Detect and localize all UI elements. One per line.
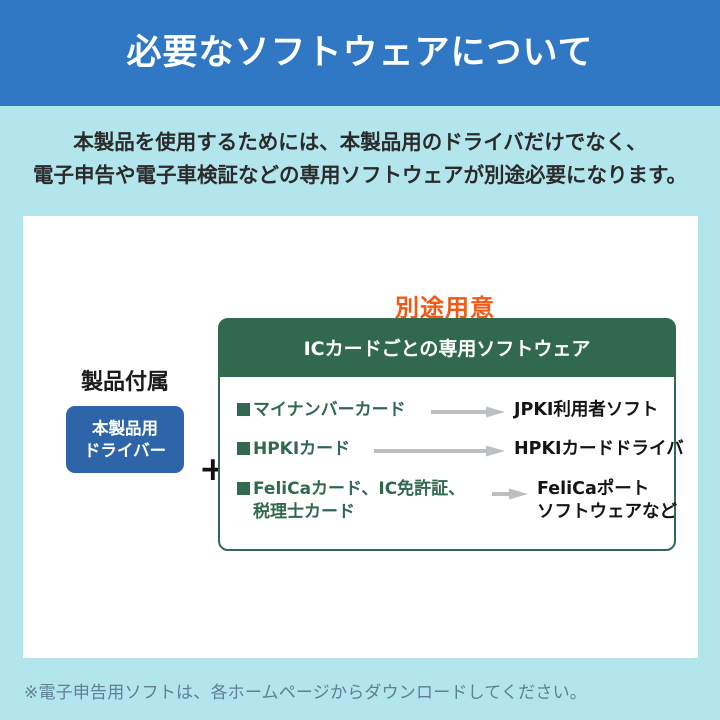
square-bullet-icon bbox=[237, 403, 250, 416]
square-bullet-icon bbox=[237, 482, 250, 495]
arrow-right-icon bbox=[431, 406, 505, 418]
software-name-label: HPKIカードドライバ bbox=[514, 438, 684, 461]
driver-box: 本製品用 ドライバー bbox=[66, 406, 184, 473]
table-row: HPKIカード HPKIカードドライバ bbox=[237, 438, 657, 461]
arrow-right-icon bbox=[374, 445, 505, 457]
software-name-line-2: ソフトウェアなど bbox=[537, 501, 677, 524]
software-name-line-1: JPKI利用者ソフト bbox=[514, 399, 658, 422]
card-type-line-1: FeliCaカード、IC免許証、 bbox=[237, 478, 483, 501]
card-type-line-2: 税理士カード bbox=[237, 501, 483, 524]
software-name-line-1: FeliCaポート bbox=[537, 478, 677, 501]
card-type-text-1: マイナンバーカード bbox=[253, 400, 406, 420]
driver-box-line-1: 本製品用 bbox=[92, 418, 158, 440]
software-panel: ICカードごとの専用ソフトウェア マイナンバーカード JPKI利用者ソフト bbox=[218, 318, 676, 551]
card-type-label: HPKIカード bbox=[237, 438, 365, 461]
intro-text: 本製品を使用するためには、本製品用のドライバだけでなく、 電子申告や電子車検証な… bbox=[0, 126, 720, 192]
bundled-label: 製品付属 bbox=[50, 371, 200, 395]
software-name-line-1: HPKIカードドライバ bbox=[514, 438, 684, 461]
footnote-text: ※電子申告用ソフトは、各ホームページからダウンロードしてください。 bbox=[24, 678, 587, 703]
driver-box-line-2: ドライバー bbox=[84, 440, 166, 462]
card-type-label: マイナンバーカード bbox=[237, 399, 422, 422]
software-name-label: FeliCaポート ソフトウェアなど bbox=[537, 478, 677, 525]
software-panel-header: ICカードごとの専用ソフトウェア bbox=[219, 319, 675, 377]
square-bullet-icon bbox=[237, 442, 250, 455]
arrow-right-icon bbox=[492, 488, 528, 500]
diagram-card: 製品付属 本製品用 ドライバー + 別途用意 ICカードごとの専用ソフトウェア … bbox=[23, 216, 698, 658]
card-type-line-1: HPKIカード bbox=[237, 438, 365, 461]
intro-line-2: 電子申告や電子車検証などの専用ソフトウェアが別途必要になります。 bbox=[0, 159, 720, 192]
bundled-driver-group: 製品付属 本製品用 ドライバー bbox=[50, 371, 200, 473]
card-type-text-1: FeliCaカード、IC免許証、 bbox=[253, 479, 465, 499]
table-row: FeliCaカード、IC免許証、 税理士カード FeliCaポート ソフトウェア… bbox=[237, 478, 657, 525]
page-header-banner: 必要なソフトウェアについて bbox=[0, 0, 720, 106]
table-row: マイナンバーカード JPKI利用者ソフト bbox=[237, 399, 657, 422]
software-name-label: JPKI利用者ソフト bbox=[514, 399, 658, 422]
intro-line-1: 本製品を使用するためには、本製品用のドライバだけでなく、 bbox=[0, 126, 720, 159]
software-panel-body: マイナンバーカード JPKI利用者ソフト HPKIカード bbox=[220, 377, 674, 549]
page-title: 必要なソフトウェアについて bbox=[127, 34, 594, 73]
card-type-text-1: HPKIカード bbox=[253, 439, 350, 459]
card-type-line-1: マイナンバーカード bbox=[237, 399, 422, 422]
card-type-label: FeliCaカード、IC免許証、 税理士カード bbox=[237, 478, 483, 524]
